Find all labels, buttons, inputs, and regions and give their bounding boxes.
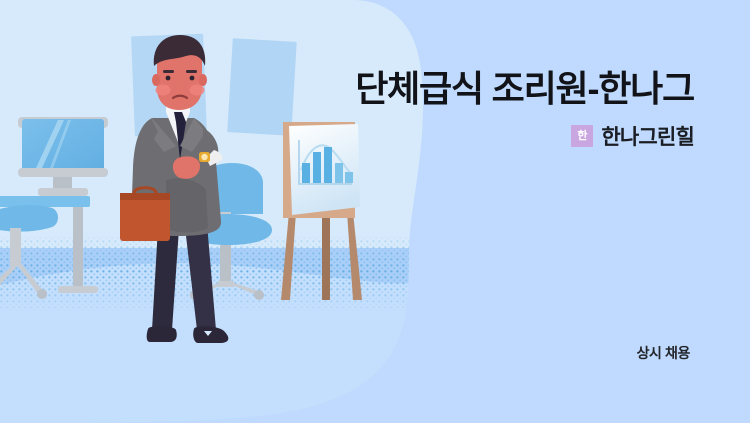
chair-right-wheel-b: [254, 290, 264, 300]
jacket-shading: [166, 178, 208, 232]
eye-left: [166, 76, 171, 81]
eye-right: [190, 76, 195, 81]
job-title: 단체급식 조리원-한나그: [234, 68, 694, 110]
desk-top: [0, 196, 90, 207]
monitor-bottom-bezel: [18, 168, 108, 177]
chair-left-seat: [0, 205, 58, 232]
chair-right-hub: [218, 281, 234, 287]
banner-text-block: 단체급식 조리원-한나그 한 한나그린힐: [234, 68, 694, 151]
company-logo-badge: 한: [571, 125, 593, 147]
chair-left-wheel: [37, 289, 47, 299]
desk-leg: [73, 207, 83, 291]
briefcase-lid: [120, 193, 170, 200]
desk-foot: [58, 286, 98, 293]
chair-left-column: [10, 228, 21, 266]
monitor-screen: [22, 119, 104, 171]
company-row[interactable]: 한 한나그린힐: [234, 121, 694, 151]
monitor-base: [38, 188, 88, 196]
shoe-left: [147, 326, 177, 342]
hiring-status-label: 상시 채용: [637, 343, 690, 363]
cheek-left: [156, 85, 171, 96]
brow-left: [163, 70, 174, 73]
cheek-right: [190, 85, 205, 96]
office-scene-illustration: [0, 0, 430, 423]
job-posting-banner: 단체급식 조리원-한나그 한 한나그린힐 상시 채용: [0, 0, 750, 423]
illustration-region: [0, 0, 430, 423]
company-name[interactable]: 한나그린힐: [601, 121, 694, 151]
easel-leg-center: [322, 212, 330, 300]
floor-texture: [0, 236, 430, 314]
briefcase: [120, 193, 170, 241]
chair-right-column: [220, 245, 231, 285]
ear-right: [199, 74, 207, 86]
watch-face: [201, 154, 207, 160]
ear-left: [152, 74, 160, 86]
brow-right: [186, 70, 197, 73]
